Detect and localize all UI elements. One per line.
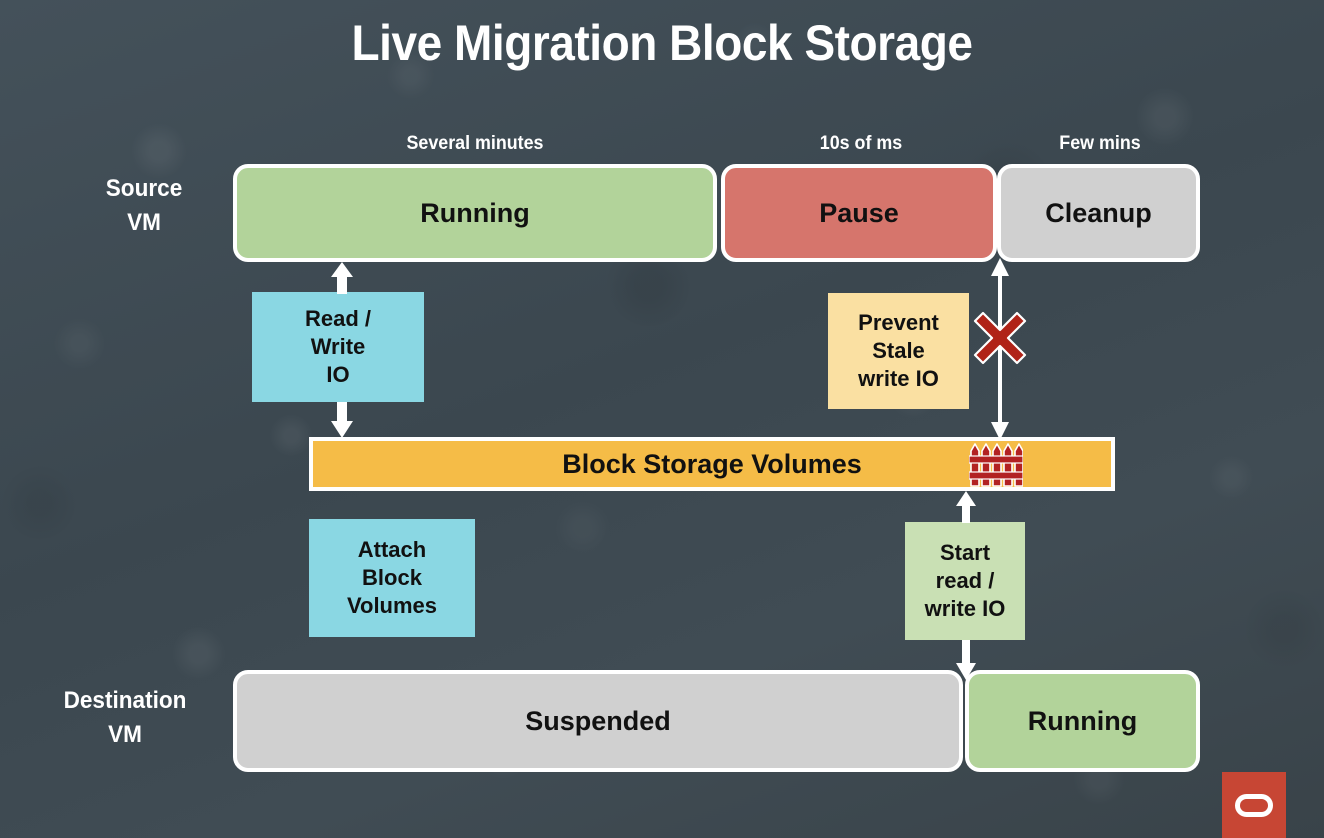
source-vm-state-pause[interactable]: Pause (721, 164, 997, 262)
annotation-attach-block-volumes-line3: Volumes (347, 592, 437, 620)
phase-duration-label-pause: 10s of ms (767, 133, 955, 155)
oracle-logo-oval (1235, 794, 1273, 817)
phase-duration-label-running: Several minutes (381, 133, 569, 155)
destination-vm-row-label: Destination VM (31, 684, 219, 752)
annotation-prevent-stale-write-io-line2: Stale (872, 337, 925, 365)
annotation-read-write-io-line2: Write (311, 333, 366, 361)
source-vm-row-label: Source VM (50, 172, 238, 240)
picket-fence-icon (969, 441, 1023, 487)
annotation-read-write-io[interactable]: Read / Write IO (252, 292, 424, 402)
destination-vm-state-running[interactable]: Running (965, 670, 1200, 772)
annotation-prevent-stale-write-io-line1: Prevent (858, 309, 939, 337)
destination-vm-state-suspended[interactable]: Suspended (233, 670, 963, 772)
arrow-down-to-storage (330, 402, 354, 438)
arrow-up-to-storage (955, 491, 977, 523)
annotation-attach-block-volumes-line2: Block (362, 564, 422, 592)
annotation-start-read-write-io[interactable]: Start read / write IO (905, 522, 1025, 640)
arrow-up-to-running (330, 262, 354, 294)
annotation-read-write-io-line1: Read / (305, 305, 371, 333)
red-x-icon (972, 310, 1028, 366)
source-vm-row-label-line2: VM (50, 206, 238, 240)
source-vm-state-running[interactable]: Running (233, 164, 717, 262)
annotation-prevent-stale-write-io-line3: write IO (858, 365, 939, 393)
block-storage-volumes-label: Block Storage Volumes (562, 449, 862, 480)
annotation-read-write-io-line3: IO (326, 361, 349, 389)
annotation-start-read-write-io-line1: Start (940, 539, 990, 567)
annotation-attach-block-volumes[interactable]: Attach Block Volumes (309, 519, 475, 637)
annotation-prevent-stale-write-io[interactable]: Prevent Stale write IO (828, 293, 969, 409)
page-title: Live Migration Block Storage (53, 14, 1271, 72)
slide-canvas: Live Migration Block Storage Several min… (0, 0, 1324, 838)
annotation-start-read-write-io-line2: read / (936, 567, 995, 595)
source-vm-row-label-line1: Source (50, 172, 238, 206)
destination-vm-row-label-line1: Destination (31, 684, 219, 718)
annotation-start-read-write-io-line3: write IO (925, 595, 1006, 623)
oracle-logo (1222, 772, 1286, 838)
annotation-attach-block-volumes-line1: Attach (358, 536, 426, 564)
destination-vm-row-label-line2: VM (31, 718, 219, 752)
source-vm-state-cleanup[interactable]: Cleanup (997, 164, 1200, 262)
phase-duration-label-cleanup: Few mins (1006, 133, 1194, 155)
